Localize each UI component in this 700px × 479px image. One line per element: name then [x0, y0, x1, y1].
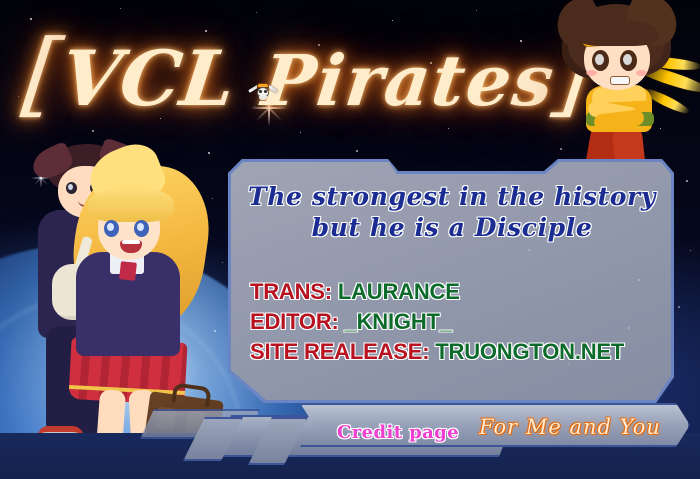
- credit-row-trans: TRANS: LAURANCE: [250, 277, 660, 307]
- chibi-eye: [620, 50, 637, 71]
- credit-page-image: [VCL Pirates]: [0, 0, 700, 479]
- pirate-skull-crossed-swords-icon: [251, 82, 275, 104]
- boy-eye: [66, 182, 77, 194]
- subtitle-line-2: but he is a Disciple: [242, 212, 662, 243]
- credit-value-trans: LAURANCE: [338, 279, 460, 304]
- girl-fringe: [88, 186, 174, 222]
- signature-text: For Me and You: [470, 415, 670, 439]
- chibi-fringe: [576, 20, 658, 46]
- chibi-martial-artist-character: [548, 0, 698, 175]
- credit-value-site: TRUONGTON.NET: [435, 339, 624, 364]
- chibi-eye: [592, 50, 609, 71]
- girl-ribbon-tie: [119, 261, 137, 281]
- girl-eye: [104, 220, 119, 237]
- subtitle-line-1: The strongest in the history: [248, 182, 656, 211]
- skull-eye-right: [264, 90, 267, 93]
- series-subtitle: The strongest in the history but he is a…: [242, 181, 662, 243]
- bottom-banner: Credit page For Me and You: [0, 387, 700, 479]
- skull-eye-left: [259, 90, 262, 93]
- credits-list: TRANS: LAURANCE EDITOR: _KNIGHT_ SITE RE…: [250, 277, 660, 367]
- credit-label-editor: EDITOR:: [250, 309, 339, 334]
- girl-eye: [134, 220, 149, 237]
- credit-value-editor: _KNIGHT_: [345, 309, 452, 334]
- chibi-blush: [636, 70, 647, 76]
- credit-row-site: SITE REALEASE: TRUONGTON.NET: [250, 337, 660, 367]
- credit-page-label: Credit page: [318, 422, 478, 443]
- credits-panel-content: The strongest in the history but he is a…: [228, 159, 674, 403]
- credit-label-trans: TRANS:: [250, 279, 332, 304]
- chibi-blush: [586, 70, 597, 76]
- credit-label-site: SITE REALEASE:: [250, 339, 429, 364]
- credit-row-editor: EDITOR: _KNIGHT_: [250, 307, 660, 337]
- chibi-mouth: [610, 76, 630, 85]
- skull-jaw: [259, 96, 267, 100]
